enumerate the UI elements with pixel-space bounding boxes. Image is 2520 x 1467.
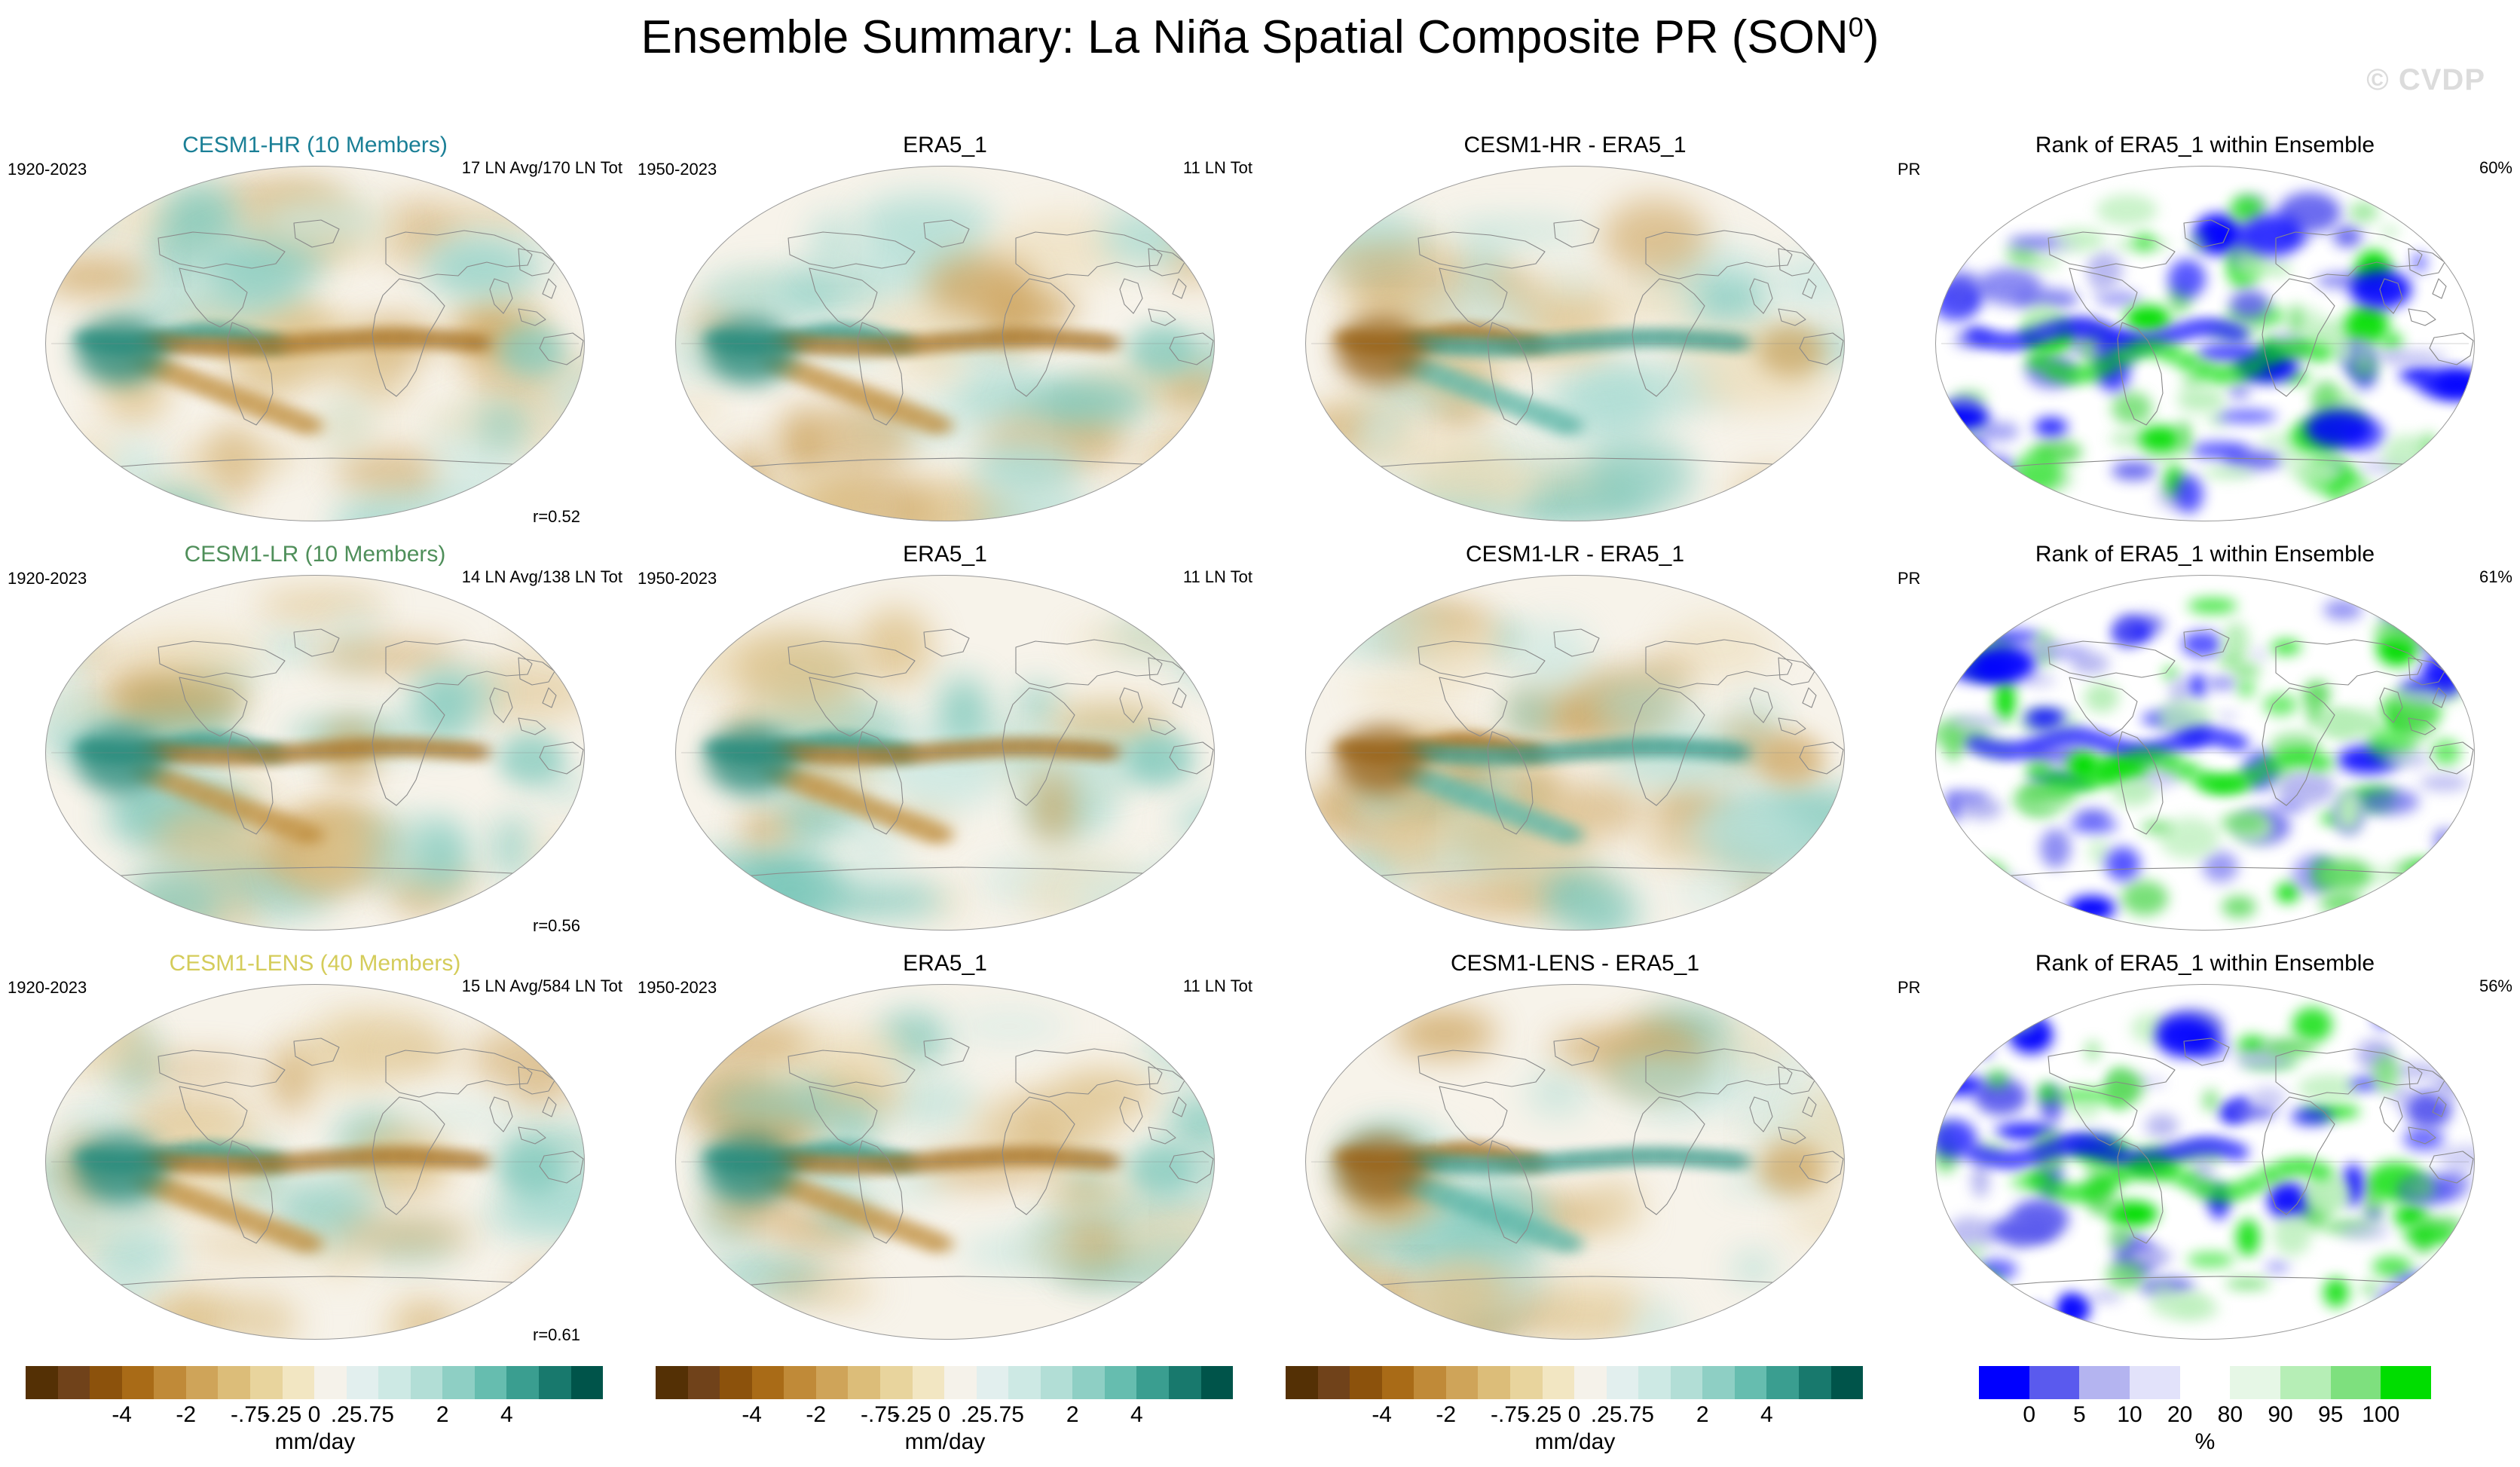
colorbar-tick: 0	[1568, 1402, 1581, 1428]
colorbar-tick: 0	[308, 1402, 321, 1428]
anomaly-swatch	[1382, 1366, 1414, 1399]
colorbar-tick: .75	[992, 1402, 1024, 1428]
world-map	[45, 575, 585, 931]
coastline-overlay	[1935, 166, 2475, 521]
rank-swatch	[2280, 1366, 2331, 1399]
world-map	[1935, 575, 2475, 931]
anomaly-swatch	[656, 1366, 688, 1399]
map-area	[0, 981, 630, 1358]
anomaly-swatch	[1350, 1366, 1382, 1399]
anomaly-swatch	[411, 1366, 443, 1399]
coastline-overlay	[675, 984, 1215, 1340]
anomaly-swatch	[1607, 1366, 1639, 1399]
panel-title: ERA5_1	[630, 133, 1260, 158]
colorbar-tick: 4	[500, 1402, 513, 1428]
colorbar-swatches	[1979, 1366, 2431, 1399]
anomaly-swatch	[880, 1366, 913, 1399]
map-area	[1890, 981, 2520, 1358]
anomaly-swatch	[848, 1366, 880, 1399]
map-area	[0, 163, 630, 539]
anomaly-swatch	[720, 1366, 752, 1399]
panel-title: CESM1-LENS - ERA5_1	[1260, 951, 1890, 976]
observation-composite-panel: ERA5_11950-202311 LN Tot	[630, 542, 1260, 951]
colorbar-tick: 2	[436, 1402, 449, 1428]
map-area	[630, 981, 1260, 1358]
panel-title: Rank of ERA5_1 within Ensemble	[1890, 951, 2520, 976]
coastline-overlay	[1305, 166, 1845, 521]
rank-panel: Rank of ERA5_1 within EnsemblePR61%	[1890, 542, 2520, 951]
anomaly-swatch	[218, 1366, 250, 1399]
figure-title-superscript: 0	[1849, 11, 1864, 42]
world-map	[45, 984, 585, 1340]
coastline-overlay	[45, 575, 585, 931]
anomaly-swatch	[378, 1366, 411, 1399]
colorbar-unit: mm/day	[1260, 1429, 1890, 1455]
colorbar-tick: -4	[1372, 1402, 1392, 1428]
anomaly-swatch	[1169, 1366, 1201, 1399]
colorbar-tick: 95	[2318, 1402, 2343, 1428]
anomaly-colorbar: -4-2-.75-.250.25.7524mm/day	[1260, 1360, 1890, 1467]
anomaly-swatch	[1543, 1366, 1575, 1399]
panel-title: CESM1-LR - ERA5_1	[1260, 542, 1890, 567]
map-area	[1890, 572, 2520, 949]
colorbar-swatches	[26, 1366, 603, 1399]
colorbar-tick: 90	[2268, 1402, 2292, 1428]
colorbar-tick: -.25	[263, 1402, 302, 1428]
figure-title: Ensemble Summary: La Niña Spatial Compos…	[0, 11, 2520, 64]
map-area	[0, 572, 630, 949]
anomaly-swatch	[122, 1366, 154, 1399]
world-map	[1305, 984, 1845, 1340]
rank-swatch	[2079, 1366, 2130, 1399]
map-area	[1890, 163, 2520, 539]
world-map	[45, 166, 585, 521]
anomaly-swatch	[571, 1366, 604, 1399]
colorbar-unit: mm/day	[0, 1429, 630, 1455]
anomaly-swatch	[1766, 1366, 1799, 1399]
anomaly-swatch	[314, 1366, 347, 1399]
rank-swatch	[2130, 1366, 2180, 1399]
colorbar-tick: -2	[1436, 1402, 1456, 1428]
panel-title: CESM1-LR (10 Members)	[0, 542, 630, 567]
rank-panel: Rank of ERA5_1 within EnsemblePR60%	[1890, 133, 2520, 542]
anomaly-colorbar: -4-2-.75-.250.25.7524mm/day	[630, 1360, 1260, 1467]
pattern-correlation-label: r=0.61	[533, 1325, 580, 1345]
colorbar-tick: 2	[1066, 1402, 1079, 1428]
colorbar-tick: -.25	[1523, 1402, 1562, 1428]
colorbar-tick: 10	[2117, 1402, 2142, 1428]
pattern-correlation-label: r=0.56	[533, 916, 580, 936]
anomaly-swatch	[1201, 1366, 1234, 1399]
anomaly-swatch	[913, 1366, 945, 1399]
anomaly-swatch	[1008, 1366, 1041, 1399]
colorbar-tick: 5	[2073, 1402, 2086, 1428]
panel-title: Rank of ERA5_1 within Ensemble	[1890, 542, 2520, 567]
anomaly-swatch	[475, 1366, 507, 1399]
world-map	[675, 984, 1215, 1340]
rank-swatch	[2180, 1366, 2231, 1399]
map-area	[630, 572, 1260, 949]
anomaly-swatch	[1136, 1366, 1169, 1399]
colorbar-tick: 80	[2218, 1402, 2243, 1428]
anomaly-swatch	[442, 1366, 475, 1399]
colorbar-tick: 100	[2362, 1402, 2399, 1428]
colorbar-tick: 4	[1130, 1402, 1143, 1428]
coastline-overlay	[1935, 575, 2475, 931]
anomaly-swatch	[1702, 1366, 1735, 1399]
anomaly-swatch	[977, 1366, 1009, 1399]
coastline-overlay	[1305, 575, 1845, 931]
anomaly-swatch	[1072, 1366, 1105, 1399]
colorbar-unit: mm/day	[630, 1429, 1260, 1455]
colorbar-tick: 4	[1760, 1402, 1773, 1428]
figure-title-close: )	[1864, 11, 1879, 63]
rank-colorbar: 051020809095100%	[1890, 1360, 2520, 1467]
anomaly-swatch	[752, 1366, 784, 1399]
observation-composite-panel: ERA5_11950-202311 LN Tot	[630, 951, 1260, 1360]
panel-row: CESM1-HR (10 Members)1920-202317 LN Avg/…	[0, 133, 2520, 542]
cvdp-watermark: © CVDP	[2366, 63, 2485, 97]
colorbar-tick: 0	[2023, 1402, 2035, 1428]
coastline-overlay	[675, 166, 1215, 521]
rank-swatch	[2331, 1366, 2381, 1399]
difference-panel: CESM1-LENS - ERA5_1	[1260, 951, 1890, 1360]
colorbar-ticks: -4-2-.75-.250.25.7524	[656, 1402, 1233, 1428]
map-area	[1260, 981, 1890, 1358]
coastline-overlay	[1935, 984, 2475, 1340]
pattern-correlation-label: r=0.52	[533, 507, 580, 527]
anomaly-swatch	[90, 1366, 122, 1399]
panel-title: Rank of ERA5_1 within Ensemble	[1890, 133, 2520, 158]
anomaly-swatch	[944, 1366, 977, 1399]
anomaly-swatch	[539, 1366, 571, 1399]
colorbar-tick: -2	[806, 1402, 826, 1428]
anomaly-swatch	[816, 1366, 849, 1399]
colorbar-tick: 20	[2167, 1402, 2192, 1428]
anomaly-swatch	[1105, 1366, 1137, 1399]
model-composite-panel: CESM1-LENS (40 Members)1920-202315 LN Av…	[0, 951, 630, 1360]
coastline-overlay	[45, 984, 585, 1340]
colorbar-tick: .25	[331, 1402, 362, 1428]
map-area	[1260, 163, 1890, 539]
colorbar-unit: %	[1890, 1429, 2520, 1455]
anomaly-swatch	[1446, 1366, 1479, 1399]
observation-composite-panel: ERA5_11950-202311 LN Tot	[630, 133, 1260, 542]
colorbar-tick: .25	[1591, 1402, 1622, 1428]
anomaly-swatch	[1574, 1366, 1607, 1399]
panel-title: CESM1-HR - ERA5_1	[1260, 133, 1890, 158]
panel-grid: CESM1-HR (10 Members)1920-202317 LN Avg/…	[0, 133, 2520, 1360]
anomaly-swatch	[186, 1366, 219, 1399]
figure-title-text: Ensemble Summary: La Niña Spatial Compos…	[641, 11, 1849, 63]
anomaly-swatch	[784, 1366, 816, 1399]
world-map	[1935, 166, 2475, 521]
anomaly-swatch	[1041, 1366, 1073, 1399]
colorbar-tick: -4	[112, 1402, 132, 1428]
difference-panel: CESM1-HR - ERA5_1	[1260, 133, 1890, 542]
anomaly-swatch	[1318, 1366, 1350, 1399]
colorbar-tick: -.25	[893, 1402, 932, 1428]
panel-title: ERA5_1	[630, 542, 1260, 567]
anomaly-swatch	[58, 1366, 90, 1399]
anomaly-swatch	[1286, 1366, 1318, 1399]
world-map	[1305, 166, 1845, 521]
coastline-overlay	[1305, 984, 1845, 1340]
anomaly-swatch	[26, 1366, 58, 1399]
rank-swatch	[1979, 1366, 2029, 1399]
anomaly-swatch	[1831, 1366, 1864, 1399]
world-map	[675, 166, 1215, 521]
anomaly-swatch	[1478, 1366, 1510, 1399]
anomaly-swatch	[688, 1366, 720, 1399]
colorbar-swatches	[1286, 1366, 1863, 1399]
anomaly-swatch	[1799, 1366, 1831, 1399]
anomaly-swatch	[347, 1366, 379, 1399]
rank-swatch	[2230, 1366, 2280, 1399]
colorbar-row: -4-2-.75-.250.25.7524mm/day-4-2-.75-.250…	[0, 1360, 2520, 1467]
colorbar-tick: -4	[742, 1402, 762, 1428]
panel-title: CESM1-HR (10 Members)	[0, 133, 630, 158]
coastline-overlay	[675, 575, 1215, 931]
anomaly-swatch	[1671, 1366, 1703, 1399]
model-composite-panel: CESM1-LR (10 Members)1920-202314 LN Avg/…	[0, 542, 630, 951]
panel-row: CESM1-LENS (40 Members)1920-202315 LN Av…	[0, 951, 2520, 1360]
anomaly-swatch	[250, 1366, 283, 1399]
colorbar-tick: .75	[1622, 1402, 1654, 1428]
anomaly-swatch	[506, 1366, 539, 1399]
colorbar-ticks: -4-2-.75-.250.25.7524	[26, 1402, 603, 1428]
anomaly-swatch	[1735, 1366, 1767, 1399]
colorbar-tick: .75	[362, 1402, 394, 1428]
world-map	[1935, 984, 2475, 1340]
colorbar-ticks: -4-2-.75-.250.25.7524	[1286, 1402, 1863, 1428]
colorbar-tick: 2	[1696, 1402, 1709, 1428]
map-area	[630, 163, 1260, 539]
difference-panel: CESM1-LR - ERA5_1	[1260, 542, 1890, 951]
anomaly-colorbar: -4-2-.75-.250.25.7524mm/day	[0, 1360, 630, 1467]
anomaly-swatch	[1414, 1366, 1446, 1399]
rank-swatch	[2029, 1366, 2080, 1399]
model-composite-panel: CESM1-HR (10 Members)1920-202317 LN Avg/…	[0, 133, 630, 542]
anomaly-swatch	[154, 1366, 186, 1399]
colorbar-tick: 0	[938, 1402, 951, 1428]
rank-panel: Rank of ERA5_1 within EnsemblePR56%	[1890, 951, 2520, 1360]
map-area	[1260, 572, 1890, 949]
colorbar-tick: .25	[961, 1402, 992, 1428]
panel-title: CESM1-LENS (40 Members)	[0, 951, 630, 976]
colorbar-ticks: 051020809095100	[1979, 1402, 2431, 1428]
panel-title: ERA5_1	[630, 951, 1260, 976]
colorbar-swatches	[656, 1366, 1233, 1399]
world-map	[1305, 575, 1845, 931]
anomaly-swatch	[1510, 1366, 1543, 1399]
panel-row: CESM1-LR (10 Members)1920-202314 LN Avg/…	[0, 542, 2520, 951]
anomaly-swatch	[1638, 1366, 1671, 1399]
world-map	[675, 575, 1215, 931]
colorbar-tick: -2	[176, 1402, 196, 1428]
coastline-overlay	[45, 166, 585, 521]
anomaly-swatch	[283, 1366, 315, 1399]
rank-swatch	[2381, 1366, 2431, 1399]
